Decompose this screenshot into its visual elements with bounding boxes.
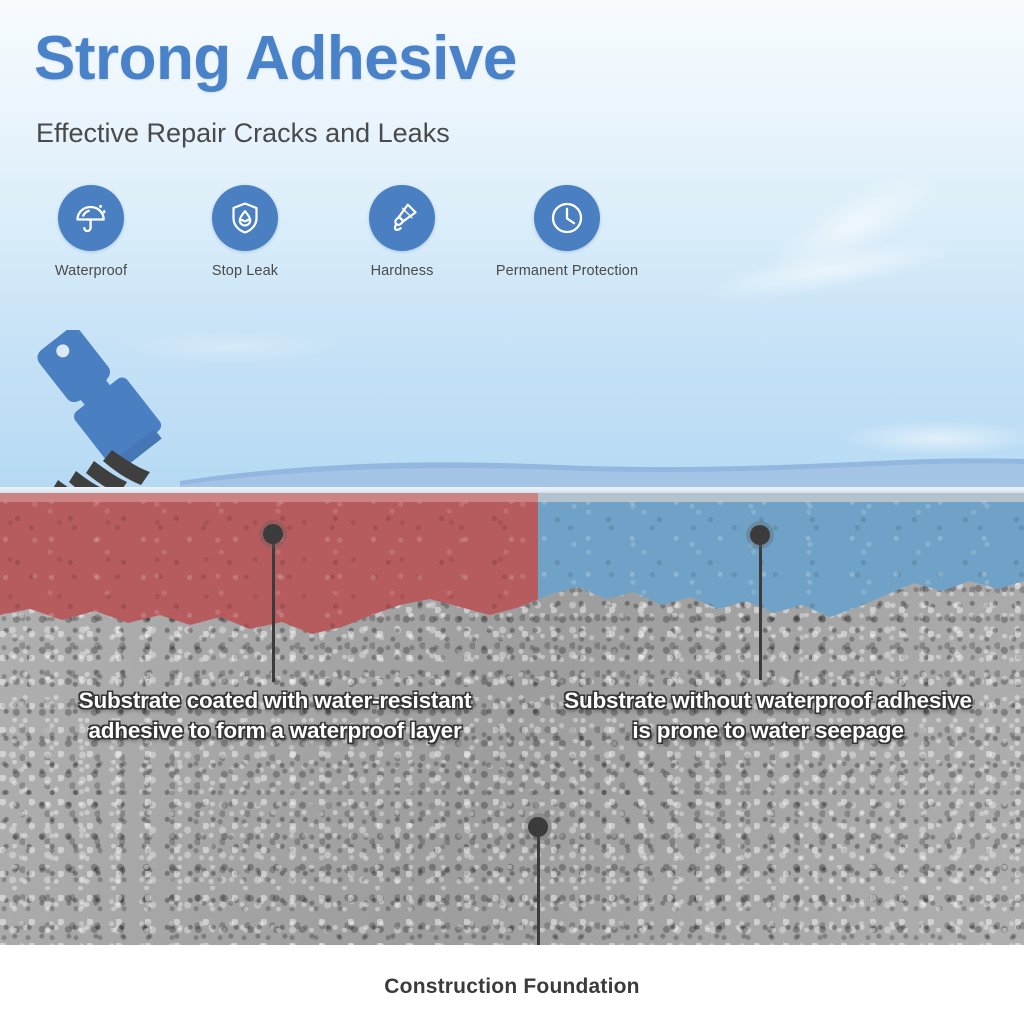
page-subtitle: Effective Repair Cracks and Leaks (36, 118, 450, 149)
pointer-dot (528, 817, 548, 837)
foundation-label: Construction Foundation (0, 975, 1024, 999)
callout-right-line1: Substrate without waterproof adhesive (528, 686, 1008, 716)
feature-icon-badge (534, 185, 600, 251)
clock-icon (548, 199, 586, 237)
feature-label: Waterproof (34, 263, 148, 279)
feature-icon-badge (369, 185, 435, 251)
feature-icon-badge (212, 185, 278, 251)
infographic-canvas: Strong Adhesive Effective Repair Cracks … (0, 0, 1024, 1024)
umbrella-icon (72, 199, 110, 237)
callout-left-line2: adhesive to form a waterproof layer (40, 716, 510, 746)
feature-label: Stop Leak (188, 263, 302, 279)
callout-left-line1: Substrate coated with water-resistant (40, 686, 510, 716)
feature-label: Permanent Protection (487, 263, 647, 279)
feature-item-permanent-protection: Permanent Protection (487, 185, 647, 279)
callout-text-right: Substrate without waterproof adhesive is… (528, 686, 1008, 745)
callout-text-left: Substrate coated with water-resistant ad… (40, 686, 510, 745)
feature-icon-badge (58, 185, 124, 251)
feature-item-waterproof: Waterproof (34, 185, 148, 279)
feature-label: Hardness (345, 263, 459, 279)
pointer-dot (750, 525, 770, 545)
feature-item-stop-leak: Stop Leak (188, 185, 302, 279)
feature-item-hardness: Hardness (345, 185, 459, 279)
pointer-line (272, 534, 275, 682)
pointer-line (759, 535, 762, 680)
paint-brush-icon (383, 199, 421, 237)
pointer-dot (263, 524, 283, 544)
feature-list: Waterproof Stop Leak (0, 185, 1024, 300)
page-title: Strong Adhesive (34, 28, 517, 90)
cloud-wisp-icon (840, 420, 1024, 456)
shield-droplet-icon (226, 199, 264, 237)
callout-right-line2: is prone to water seepage (528, 716, 1008, 746)
